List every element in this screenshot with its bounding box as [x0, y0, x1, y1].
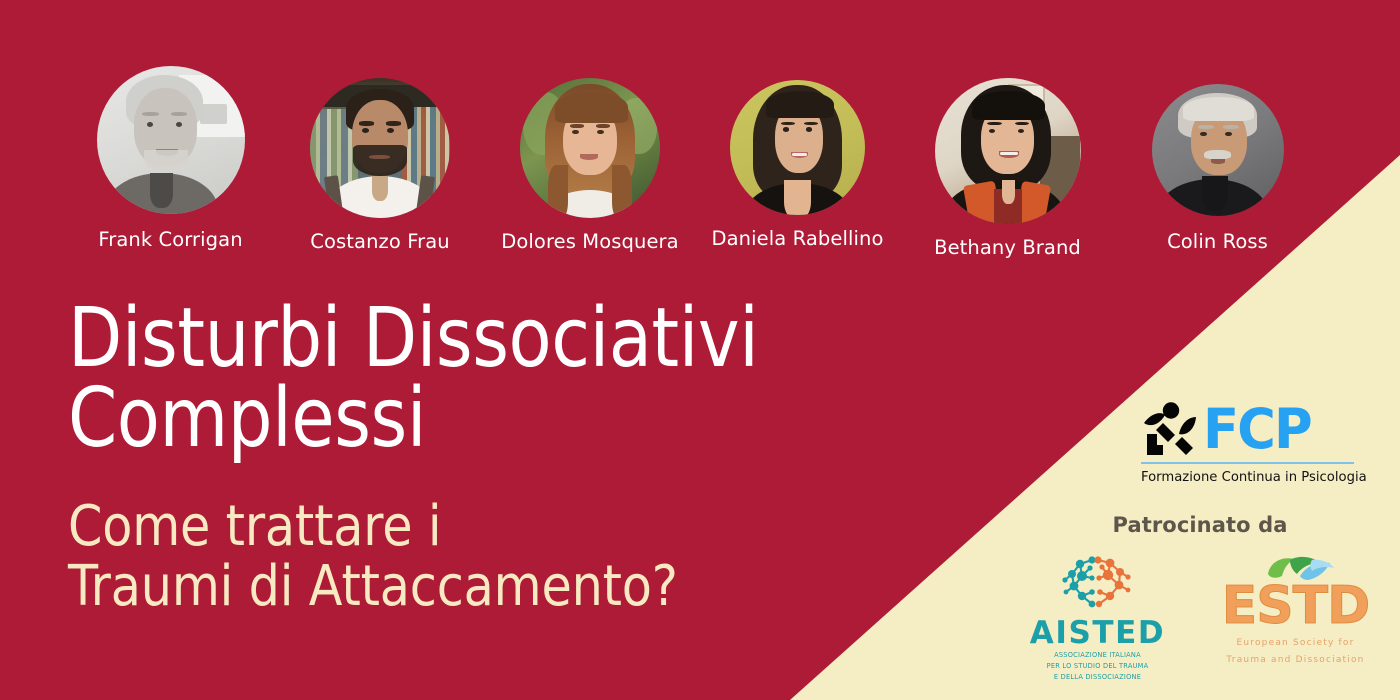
fcp-wordmark: FCP	[1203, 402, 1311, 457]
speaker-name: Costanzo Frau	[290, 230, 470, 253]
patrocinato-label: Patrocinato da	[1087, 513, 1313, 537]
avatar	[730, 80, 865, 215]
aisted-wordmark: AISTED	[1005, 617, 1190, 649]
estd-logo: ESTD European Society for Trauma and Dis…	[1201, 554, 1390, 666]
sponsor-logos: AISTED ASSOCIAZIONE ITALIANA PER LO STUD…	[1005, 552, 1390, 677]
speaker-name: Bethany Brand	[925, 236, 1090, 259]
network-brain-icon	[1060, 552, 1136, 616]
aisted-tagline-2: PER LO STUDIO DEL TRAUMA	[1005, 662, 1190, 671]
avatar	[520, 78, 660, 218]
speaker-name: Daniela Rabellino	[710, 227, 885, 250]
subtitle-line-2: Traumi di Attaccamento?	[68, 557, 834, 617]
aisted-tagline-1: ASSOCIAZIONE ITALIANA	[1005, 651, 1190, 660]
avatar	[935, 78, 1081, 224]
speaker-card: Bethany Brand	[925, 78, 1090, 259]
promo-banner: Frank Corrigan Costa	[0, 0, 1400, 700]
page-title: Disturbi Dissociativi Complessi	[68, 299, 938, 459]
speaker-name: Frank Corrigan	[68, 228, 273, 251]
avatar	[97, 66, 245, 214]
hands-swoosh-icon	[1264, 554, 1336, 584]
aisted-logo: AISTED ASSOCIAZIONE ITALIANA PER LO STUD…	[1005, 552, 1190, 682]
page-subtitle: Come trattare i Traumi di Attaccamento?	[68, 497, 938, 617]
speaker-name: Colin Ross	[1140, 230, 1295, 253]
title-line-1: Disturbi Dissociativi	[68, 299, 816, 379]
speaker-card: Daniela Rabellino	[710, 80, 885, 250]
speaker-card: Dolores Mosquera	[500, 78, 680, 253]
subtitle-line-1: Come trattare i	[68, 497, 834, 557]
speakers-row: Frank Corrigan Costa	[0, 66, 1400, 266]
avatar	[310, 78, 450, 218]
estd-tagline-1: European Society for	[1201, 637, 1390, 649]
title-line-2: Complessi	[68, 379, 816, 459]
estd-wordmark: ESTD	[1201, 580, 1390, 632]
running-person-icon	[1141, 401, 1199, 457]
speaker-card: Colin Ross	[1140, 84, 1295, 253]
fcp-logo: FCP Formazione Continua in Psicologia	[1141, 398, 1359, 486]
speaker-name: Dolores Mosquera	[500, 230, 680, 253]
estd-tagline-2: Trauma and Dissociation	[1201, 654, 1390, 666]
avatar	[1152, 84, 1284, 216]
fcp-divider	[1141, 462, 1354, 464]
speaker-card: Costanzo Frau	[290, 78, 470, 253]
speaker-card: Frank Corrigan	[68, 66, 273, 251]
aisted-tagline-3: E DELLA DISSOCIAZIONE	[1005, 673, 1190, 682]
fcp-tagline: Formazione Continua in Psicologia	[1141, 468, 1352, 486]
